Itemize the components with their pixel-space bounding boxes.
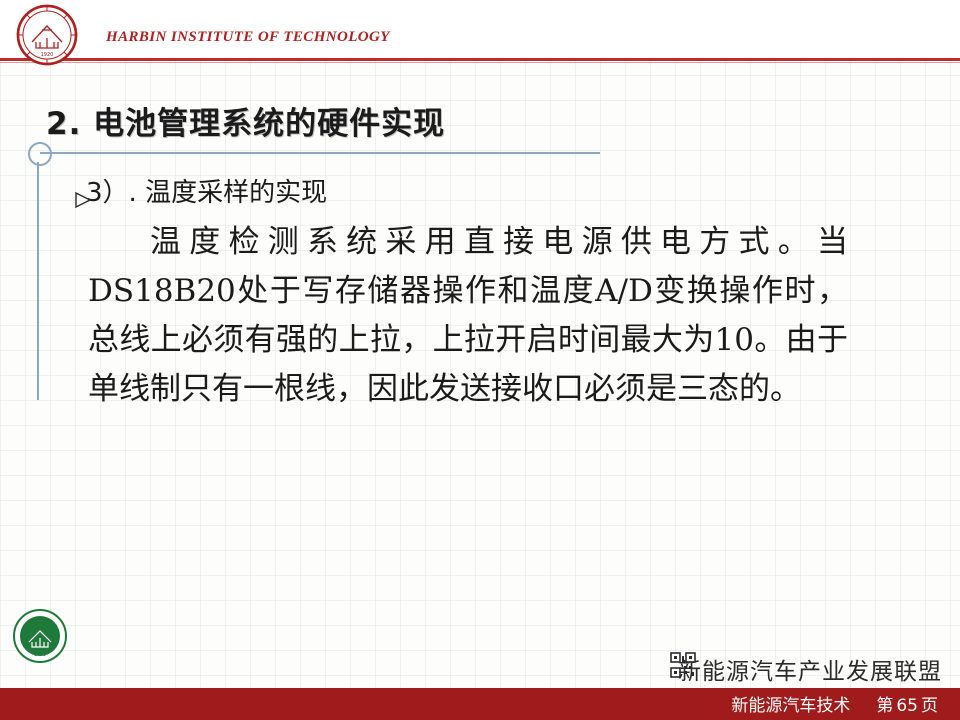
header-rule — [0, 58, 960, 61]
footer-meta: 新能源汽车技术第65页 — [731, 691, 938, 716]
hit-crest-icon: 1920 — [16, 4, 78, 66]
watermark-text: 新能源汽车产业发展联盟 — [678, 652, 942, 686]
slide-title: 2. 电池管理系统的硬件实现 — [46, 98, 445, 143]
decorative-circle — [28, 142, 52, 166]
page-suffix: 页 — [921, 696, 938, 716]
slide-canvas: 1920 HARBIN INSTITUTE OF TECHNOLOGY 2. 电… — [0, 0, 960, 720]
arrow-bullet-icon — [60, 182, 74, 200]
page-number: 65 — [893, 696, 921, 716]
svg-text:1920: 1920 — [34, 652, 46, 658]
header-rule-secondary — [0, 62, 960, 63]
bullet-row: 3）. 温度采样的实现 — [60, 172, 327, 209]
university-name: HARBIN INSTITUTE OF TECHNOLOGY — [106, 29, 390, 46]
footer-course: 新能源汽车技术 — [731, 696, 850, 716]
bullet-label: 3）. 温度采样的实现 — [86, 172, 327, 209]
decorative-vertical-line — [37, 162, 39, 400]
body-paragraph: 温度检测系统采用直接电源供电方式。当DS18B20处于写存储器操作和温度A/D变… — [88, 218, 848, 414]
svg-text:1920: 1920 — [41, 52, 54, 58]
page-prefix: 第 — [876, 696, 893, 716]
hit-seal-icon: 1920 — [12, 608, 68, 664]
title-underline — [40, 152, 600, 154]
